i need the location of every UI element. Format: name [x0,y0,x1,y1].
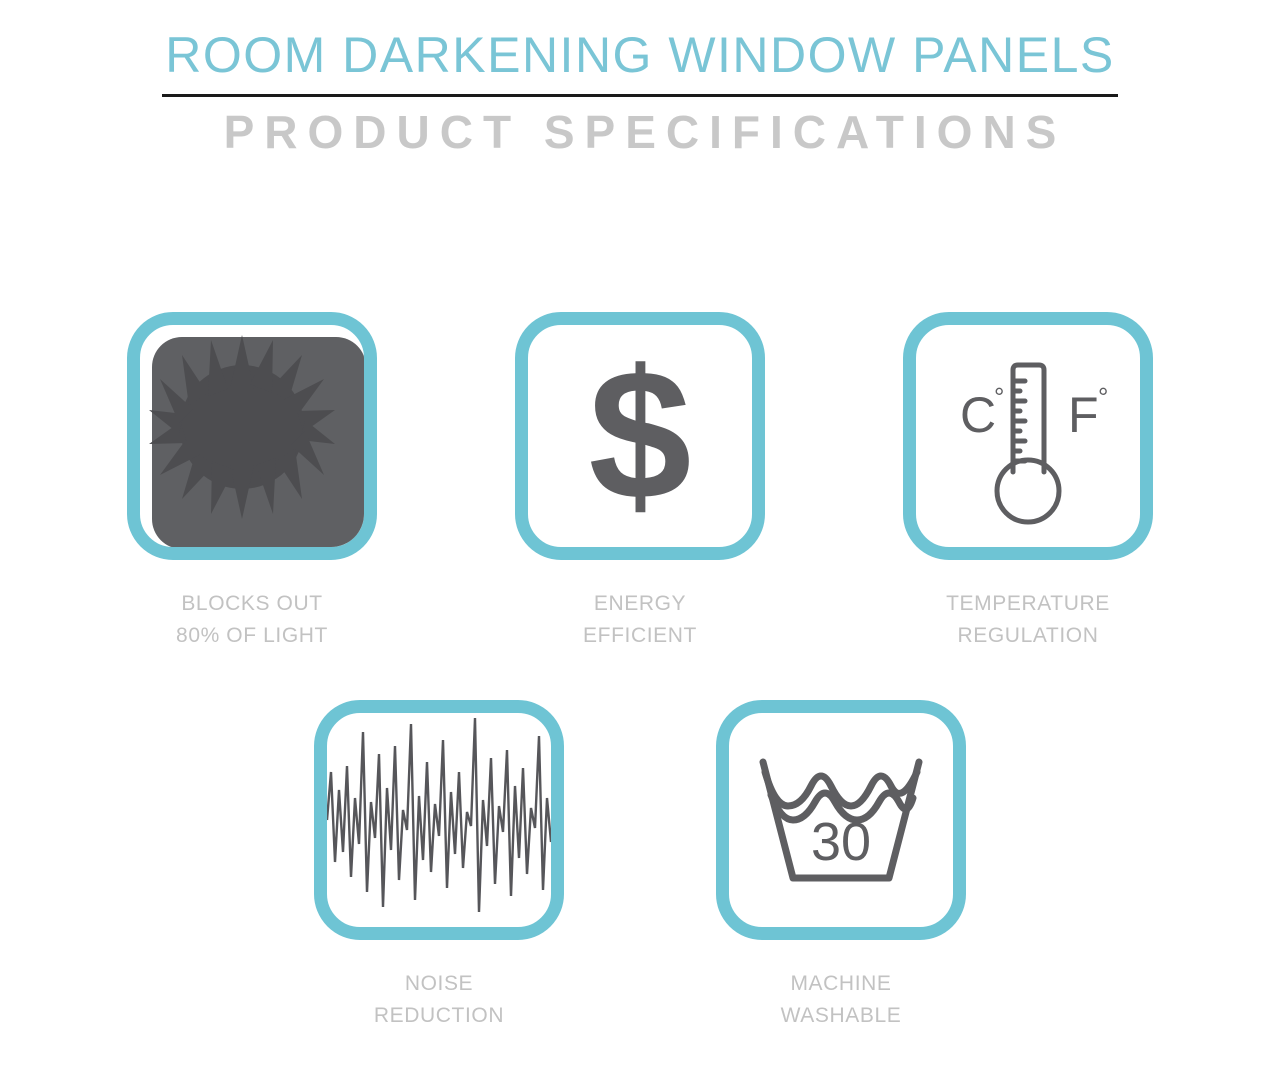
thermometer-icon: C ° F ° [928,336,1128,536]
spec-caption: TEMPERATURE REGULATION [946,588,1110,652]
page-header: ROOM DARKENING WINDOW PANELS PRODUCT SPE… [0,0,1280,155]
spec-card-temperature: C ° F ° [903,312,1153,560]
card-inner: C ° F ° [916,325,1140,547]
spec-card-energy-efficient: $ [515,312,765,560]
card-inner: 30 [729,713,953,927]
spec-caption: ENERGY EFFICIENT [583,588,697,652]
caption-line-2: WASHABLE [781,1000,902,1032]
page-title: ROOM DARKENING WINDOW PANELS [0,0,1280,80]
card-inner: $ [528,325,752,547]
fahrenheit-label: F [1068,387,1099,443]
spec-item-blocks-light: BLOCKS OUT 80% OF LIGHT [123,312,381,652]
spec-card-machine-washable: 30 [716,700,966,940]
caption-line-2: REDUCTION [374,1000,504,1032]
spec-card-blocks-light [127,312,377,560]
spec-item-noise-reduction: NOISE REDUCTION [310,700,568,1032]
caption-line-1: NOISE [374,968,504,1000]
fahrenheit-degree-symbol: ° [1098,382,1108,412]
caption-line-1: MACHINE [781,968,902,1000]
spec-item-energy-efficient: $ ENERGY EFFICIENT [511,312,769,652]
sound-wave-icon [327,713,551,927]
spec-card-noise-reduction [314,700,564,940]
spec-caption: NOISE REDUCTION [374,968,504,1032]
spec-row-top: BLOCKS OUT 80% OF LIGHT $ ENERGY EFFICIE… [0,312,1280,652]
wash-temperature-label: 30 [811,812,871,872]
page-subtitle: PRODUCT SPECIFICATIONS [0,97,1280,155]
celsius-label: C [960,387,996,443]
spec-caption: BLOCKS OUT 80% OF LIGHT [176,588,328,652]
darkened-sun-icon [142,327,342,527]
spec-row-bottom: NOISE REDUCTION 30 [0,700,1280,1032]
spec-item-temperature: C ° F ° TEMPERATURE REGULATION [899,312,1157,652]
spec-caption: MACHINE WASHABLE [781,968,902,1032]
spec-item-machine-washable: 30 MACHINE WASHABLE [712,700,970,1032]
caption-line-1: TEMPERATURE [946,588,1110,620]
card-inner [327,713,551,927]
celsius-degree-symbol: ° [994,382,1004,412]
caption-line-2: REGULATION [946,620,1110,652]
dollar-sign-icon: $ [528,344,752,529]
card-inner [140,325,364,547]
wash-tub-icon: 30 [741,720,941,920]
caption-line-2: EFFICIENT [583,620,697,652]
caption-line-1: BLOCKS OUT [176,588,328,620]
caption-line-2: 80% OF LIGHT [176,620,328,652]
caption-line-1: ENERGY [583,588,697,620]
